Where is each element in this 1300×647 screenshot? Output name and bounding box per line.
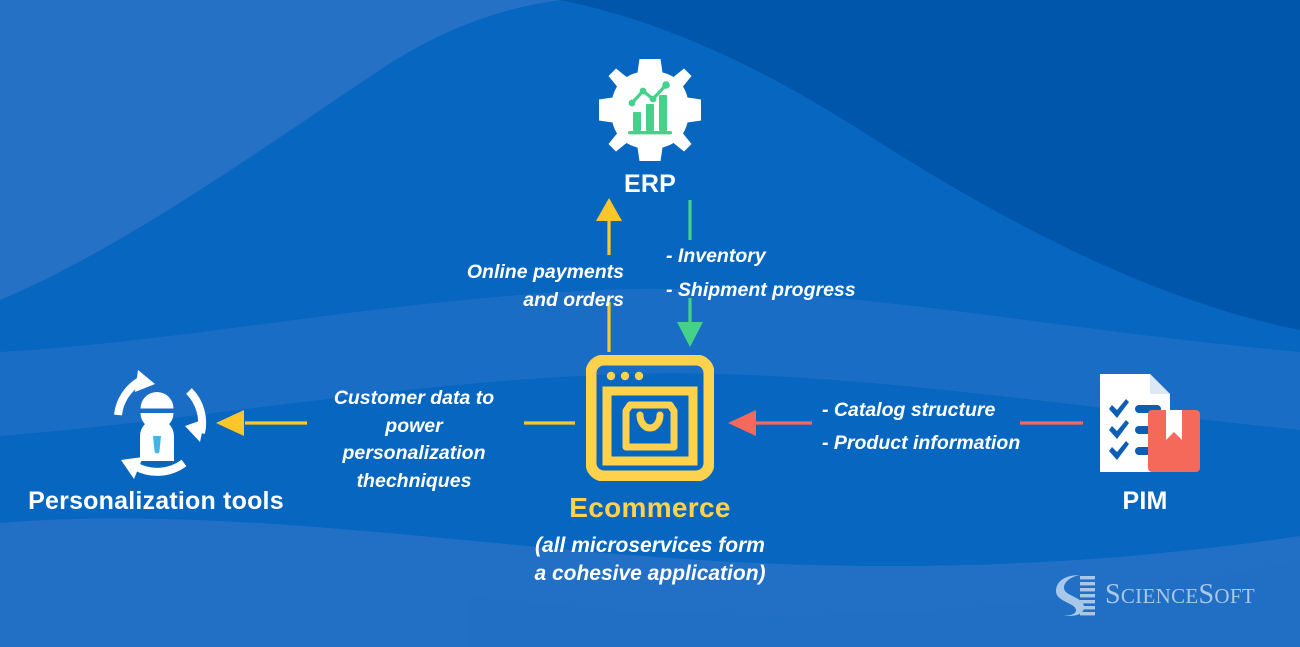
logo-s2: S bbox=[1199, 579, 1215, 610]
diagram-canvas: ERP Ecommerce (all microservices form a … bbox=[0, 0, 1300, 647]
logo-s1: S bbox=[1105, 579, 1121, 610]
sciencesoft-logo: SCIENCESOFT bbox=[1050, 572, 1255, 618]
sciencesoft-wordmark: SCIENCESOFT bbox=[1105, 579, 1255, 611]
flow-label-payments-orders: Online payments and orders bbox=[410, 259, 624, 314]
flow-label-customer-data: Customer data to power personalization t… bbox=[313, 385, 515, 496]
sciencesoft-mark-icon bbox=[1050, 572, 1096, 618]
logo-cience: CIENCE bbox=[1121, 584, 1199, 608]
logo-oft: OFT bbox=[1214, 584, 1255, 608]
flow-connectors bbox=[0, 0, 1300, 647]
flow-label-erp-data: - Inventory - Shipment progress bbox=[666, 240, 966, 307]
flow-label-catalog-data: - Catalog structure - Product informatio… bbox=[822, 394, 1102, 460]
